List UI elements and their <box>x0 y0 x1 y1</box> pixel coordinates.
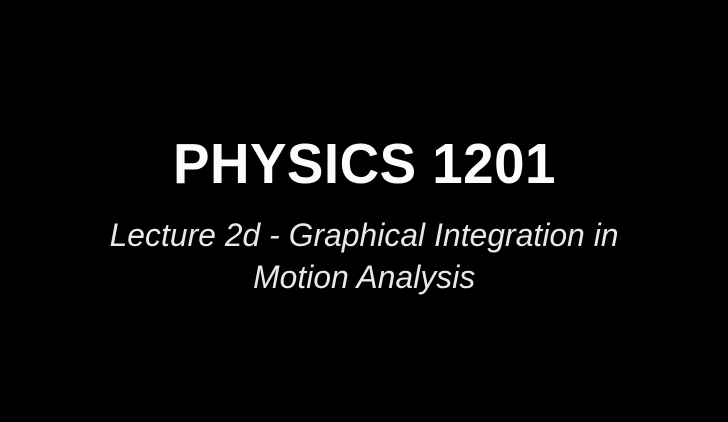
lecture-title-slide: PHYSICS 1201 Lecture 2d - Graphical Inte… <box>0 0 728 422</box>
lecture-subtitle-line-2: Motion Analysis <box>253 256 475 298</box>
lecture-subtitle: Lecture 2d - Graphical Integration in Mo… <box>64 214 664 298</box>
title-block: PHYSICS 1201 Lecture 2d - Graphical Inte… <box>0 135 728 298</box>
course-title: PHYSICS 1201 <box>173 135 556 193</box>
lecture-subtitle-line-1: Lecture 2d - Graphical Integration in <box>109 214 618 256</box>
